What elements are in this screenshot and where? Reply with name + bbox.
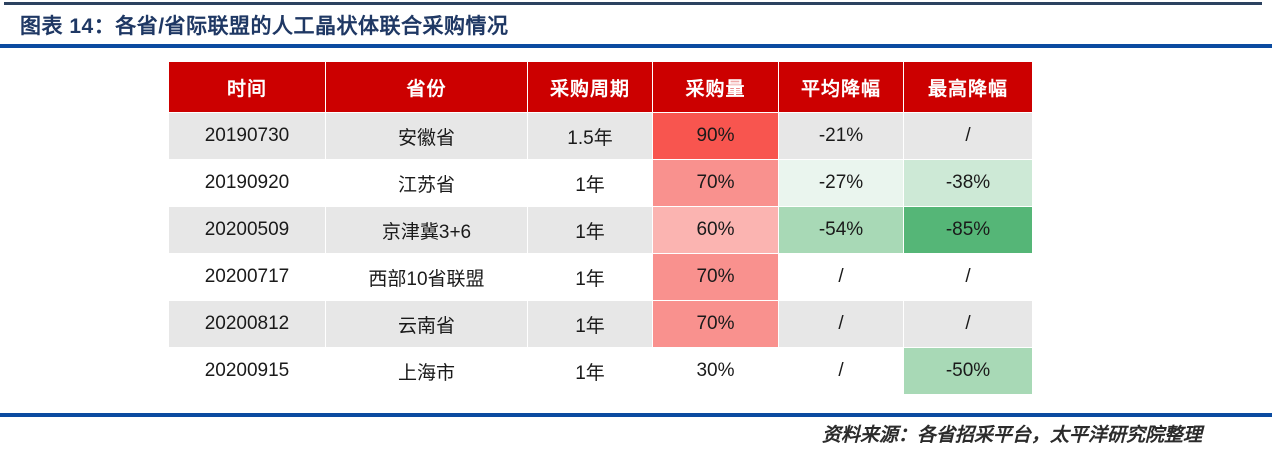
cell-volume: 60%	[653, 207, 778, 253]
cell-avg-drop-value: -54%	[779, 207, 903, 253]
cell-avg-drop: -27%	[779, 160, 903, 206]
procurement-table-container: 时间 省份 采购周期 采购量 平均降幅 最高降幅 20190730安徽省1.5年…	[168, 61, 1032, 395]
cell-cycle: 1年	[528, 160, 652, 206]
cell-time: 20200915	[169, 348, 325, 394]
cell-max-drop: -50%	[904, 348, 1032, 394]
column-header-province: 省份	[326, 62, 527, 112]
cell-province: 江苏省	[326, 160, 527, 206]
cell-cycle: 1年	[528, 301, 652, 347]
cell-max-drop: /	[904, 113, 1032, 159]
cell-volume: 30%	[653, 348, 778, 394]
column-header-cycle: 采购周期	[528, 62, 652, 112]
cell-volume-value: 90%	[653, 113, 778, 159]
cell-time: 20200812	[169, 301, 325, 347]
cell-volume-value: 70%	[653, 160, 778, 206]
cell-volume: 70%	[653, 254, 778, 300]
cell-volume: 70%	[653, 160, 778, 206]
table-row: 20190920江苏省1年70%-27%-38%	[169, 160, 1032, 206]
column-header-avg-drop: 平均降幅	[779, 62, 903, 112]
column-header-volume: 采购量	[653, 62, 778, 112]
table-header-row: 时间 省份 采购周期 采购量 平均降幅 最高降幅	[169, 62, 1032, 112]
cell-avg-drop: -21%	[779, 113, 903, 159]
table-row: 20200509京津冀3+61年60%-54%-85%	[169, 207, 1032, 253]
cell-cycle: 1年	[528, 207, 652, 253]
top-divider-rule	[4, 2, 1262, 5]
cell-volume: 90%	[653, 113, 778, 159]
source-note: 资料来源：各省招采平台，太平洋研究院整理	[0, 420, 1272, 447]
figure-title-bar: 图表 14：各省/省际联盟的人工晶状体联合采购情况	[0, 6, 1272, 44]
cell-max-drop-value: -85%	[904, 207, 1032, 253]
cell-volume-value: 70%	[653, 301, 778, 347]
page-title: 图表 14：各省/省际联盟的人工晶状体联合采购情况	[20, 10, 509, 40]
cell-avg-drop-value: -27%	[779, 160, 903, 206]
cell-time: 20200717	[169, 254, 325, 300]
cell-max-drop-value: -50%	[904, 348, 1032, 394]
cell-cycle: 1年	[528, 348, 652, 394]
cell-time: 20190730	[169, 113, 325, 159]
cell-time: 20200509	[169, 207, 325, 253]
title-underline-rule	[0, 44, 1272, 48]
cell-max-drop: /	[904, 301, 1032, 347]
table-row: 20200812云南省1年70%//	[169, 301, 1032, 347]
cell-province: 上海市	[326, 348, 527, 394]
cell-max-drop-value: -38%	[904, 160, 1032, 206]
cell-province: 西部10省联盟	[326, 254, 527, 300]
bottom-divider-rule	[0, 413, 1272, 417]
table-body: 20190730安徽省1.5年90%-21%/20190920江苏省1年70%-…	[169, 113, 1032, 394]
cell-avg-drop: /	[779, 254, 903, 300]
cell-avg-drop: /	[779, 301, 903, 347]
procurement-table: 时间 省份 采购周期 采购量 平均降幅 最高降幅 20190730安徽省1.5年…	[168, 61, 1033, 395]
cell-volume-value: 60%	[653, 207, 778, 253]
column-header-time: 时间	[169, 62, 325, 112]
table-row: 20200717西部10省联盟1年70%//	[169, 254, 1032, 300]
cell-volume-value: 70%	[653, 254, 778, 300]
cell-avg-drop: -54%	[779, 207, 903, 253]
cell-max-drop: -85%	[904, 207, 1032, 253]
cell-province: 京津冀3+6	[326, 207, 527, 253]
cell-province: 安徽省	[326, 113, 527, 159]
cell-province: 云南省	[326, 301, 527, 347]
cell-max-drop: /	[904, 254, 1032, 300]
cell-cycle: 1年	[528, 254, 652, 300]
cell-avg-drop: /	[779, 348, 903, 394]
cell-volume: 70%	[653, 301, 778, 347]
column-header-max-drop: 最高降幅	[904, 62, 1032, 112]
cell-max-drop: -38%	[904, 160, 1032, 206]
table-row: 20190730安徽省1.5年90%-21%/	[169, 113, 1032, 159]
cell-time: 20190920	[169, 160, 325, 206]
cell-cycle: 1.5年	[528, 113, 652, 159]
table-row: 20200915上海市1年30%/-50%	[169, 348, 1032, 394]
